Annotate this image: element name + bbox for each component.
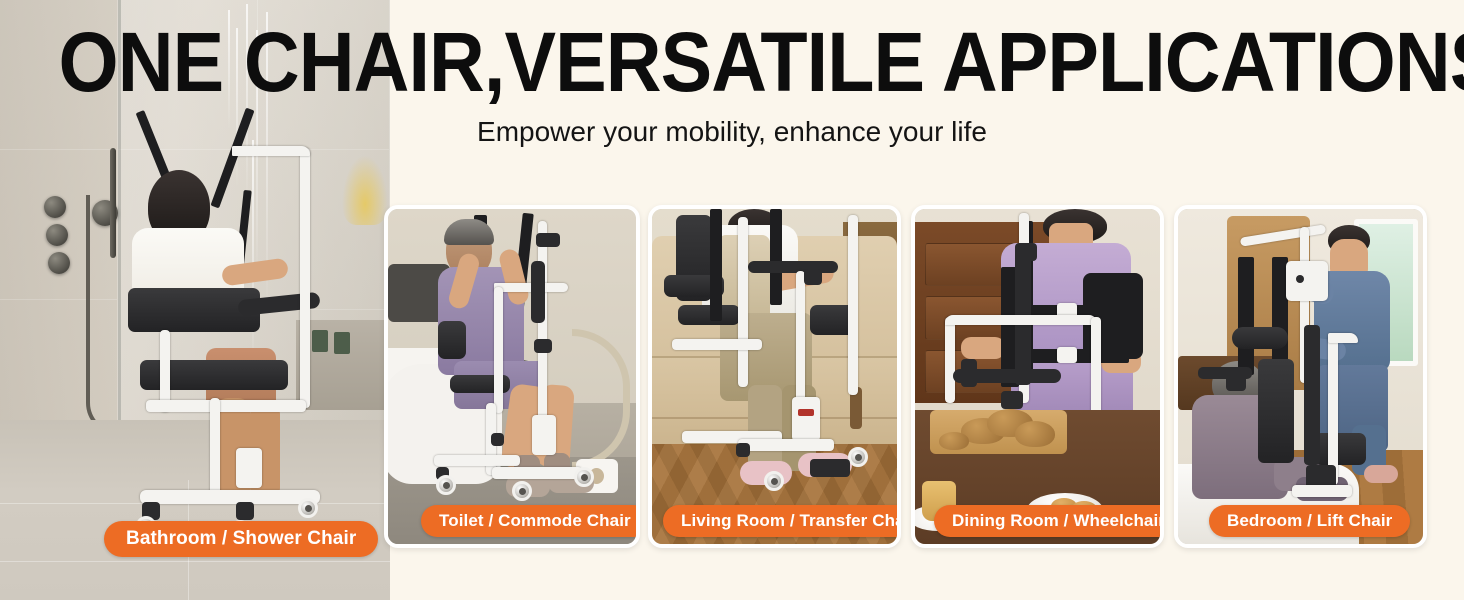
caregiver-shoe xyxy=(1364,465,1398,483)
caster-hub xyxy=(581,474,588,481)
floor-grout-line xyxy=(0,561,390,562)
bread-roll xyxy=(939,432,969,450)
chair-crossbar xyxy=(146,400,306,412)
control-knob xyxy=(536,233,560,247)
bathroom-floor xyxy=(0,420,390,600)
caster-wheel xyxy=(436,475,456,495)
caster-wheel xyxy=(764,471,784,491)
sling-strap xyxy=(1238,257,1254,375)
chair-post xyxy=(738,217,748,387)
control-button xyxy=(1296,275,1304,283)
caster-hub xyxy=(519,488,526,495)
shower-valve xyxy=(48,252,70,274)
badge-dining-room-wheelchair: Dining Room / Wheelchair xyxy=(934,505,1164,537)
chair-lift-column xyxy=(796,271,805,401)
bed-rail xyxy=(1198,367,1252,379)
chair-seat xyxy=(1314,433,1366,465)
panel-toilet-photo xyxy=(388,209,636,544)
bath-jar xyxy=(312,330,328,352)
lift-actuator-box xyxy=(236,448,262,488)
power-indicator xyxy=(798,409,814,416)
base-bracket xyxy=(236,502,254,520)
chair-armrest-pad xyxy=(438,321,466,359)
panel-dining-room[interactable]: Dining Room / Wheelchair xyxy=(911,205,1164,548)
chair-mast-cover xyxy=(1304,325,1320,465)
caster-wheel xyxy=(848,447,868,467)
caster-hub xyxy=(443,482,450,489)
chair-backrest xyxy=(1258,359,1294,463)
chair-base-bar xyxy=(492,467,582,479)
panel-dining-room-photo xyxy=(915,209,1160,544)
lift-actuator-box xyxy=(532,415,556,455)
footplate xyxy=(810,459,850,477)
panel-living-room[interactable]: Living Room / Transfer Chair xyxy=(648,205,901,548)
lift-actuator-box xyxy=(792,397,820,441)
chair-base xyxy=(140,490,320,504)
base-bracket xyxy=(491,433,504,446)
chair-base-bar xyxy=(1292,485,1352,497)
harness-buckle xyxy=(1057,347,1077,363)
chair-post xyxy=(848,215,858,395)
shower-hose xyxy=(86,195,122,435)
caster-hub xyxy=(305,505,312,512)
person-leg xyxy=(748,385,782,471)
badge-bedroom-lift-chair: Bedroom / Lift Chair xyxy=(1209,505,1410,537)
chair-grip-end xyxy=(961,359,977,387)
chair-mast xyxy=(300,148,310,408)
chair-armrest-pad xyxy=(1232,327,1288,349)
panel-toilet[interactable]: Toilet / Commode Chair xyxy=(384,205,640,548)
caster-wheel xyxy=(512,481,532,501)
chair-handle-bar xyxy=(1328,333,1358,343)
badge-toilet-commode-chair: Toilet / Commode Chair xyxy=(421,505,640,537)
badge-living-room-transfer-chair: Living Room / Transfer Chair xyxy=(663,505,901,537)
chair-base-bar xyxy=(738,439,834,451)
panel-bedroom-photo xyxy=(1178,209,1423,544)
control-knob xyxy=(1001,391,1023,409)
control-knob xyxy=(534,339,552,353)
control-knob xyxy=(1015,243,1037,261)
chair-base-bar xyxy=(434,455,520,466)
lift-control-unit xyxy=(1286,261,1328,301)
caster-hub xyxy=(855,454,862,461)
base-bracket xyxy=(736,443,750,457)
sling-strap xyxy=(710,209,722,321)
badge-bathroom-shower-chair: Bathroom / Shower Chair xyxy=(104,521,378,557)
bread-loaf xyxy=(1015,421,1055,447)
caster-hub xyxy=(771,478,778,485)
water-streak xyxy=(252,140,254,370)
chair-lift-column xyxy=(210,398,220,494)
person-hand xyxy=(961,337,1005,359)
dried-plant xyxy=(342,155,388,225)
chair-handle-bar xyxy=(945,315,1097,325)
chair-mast xyxy=(538,221,547,431)
chair-handle-grip xyxy=(748,261,838,273)
chair-mast-cover xyxy=(531,261,545,323)
caster-wheel xyxy=(574,467,594,487)
chair-post xyxy=(494,287,503,413)
chair-crossbar xyxy=(672,339,762,350)
panel-living-room-photo xyxy=(652,209,897,544)
shower-valve xyxy=(46,224,68,246)
panel-bedroom[interactable]: Bedroom / Lift Chair xyxy=(1174,205,1427,548)
chair-post xyxy=(945,317,955,403)
bath-jar xyxy=(334,332,350,354)
chair-post xyxy=(1328,335,1338,485)
control-knob xyxy=(804,269,822,285)
chair-seat xyxy=(678,305,740,325)
promo-banner: Bathroom / Shower Chair xyxy=(0,0,1464,600)
caster-wheel xyxy=(298,498,318,518)
shower-valve xyxy=(44,196,66,218)
sling-strap xyxy=(770,209,782,305)
page-subheadline: Empower your mobility, enhance your life xyxy=(0,114,1464,150)
page-headline: ONE CHAIR,VERSATILE APPLICATIONS xyxy=(59,16,1406,108)
